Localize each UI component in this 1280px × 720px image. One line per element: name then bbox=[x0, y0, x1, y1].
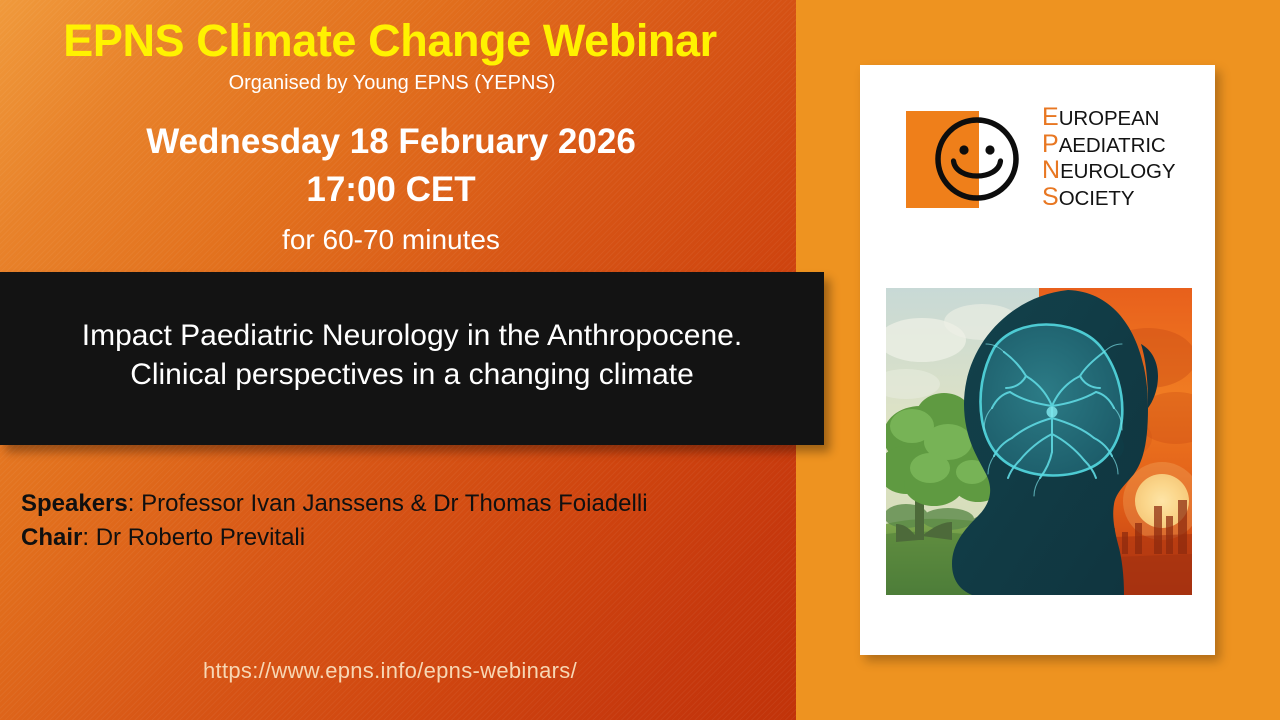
logo-rest-aediatric: AEDIATRIC bbox=[1059, 134, 1166, 157]
webinar-time: 17:00 CET bbox=[0, 170, 782, 210]
chair-row: Chair: Dr Roberto Previtali bbox=[21, 521, 648, 555]
logo-cap-s: S bbox=[1042, 183, 1059, 211]
people-block: Speakers: Professor Ivan Janssens & Dr T… bbox=[21, 487, 648, 555]
logo-line-paediatric: PAEDIATRIC bbox=[1042, 133, 1202, 157]
speakers-label: Speakers bbox=[21, 490, 128, 517]
webinar-date: Wednesday 18 February 2026 bbox=[0, 122, 782, 162]
topic-banner: Impact Paediatric Neurology in the Anthr… bbox=[0, 272, 824, 445]
logo-line-society: SOCIETY bbox=[1042, 186, 1202, 210]
topic-title: Impact Paediatric Neurology in the Anthr… bbox=[32, 316, 792, 402]
epns-logo: EUROPEAN PAEDIATRIC NEUROLOGY SOCIETY bbox=[900, 90, 1200, 225]
logo-cap-e: E bbox=[1042, 103, 1059, 131]
logo-rest-ociety: OCIETY bbox=[1059, 187, 1135, 210]
webinar-url-link[interactable]: https://www.epns.info/epns-webinars/ bbox=[0, 658, 780, 684]
page-subtitle: Organised by Young EPNS (YEPNS) bbox=[0, 71, 784, 95]
webinar-duration: for 60-70 minutes bbox=[0, 224, 782, 256]
chair-label: Chair bbox=[21, 524, 82, 551]
logo-line-neurology: NEUROLOGY bbox=[1042, 159, 1202, 183]
epns-logo-wordmark: EUROPEAN PAEDIATRIC NEUROLOGY SOCIETY bbox=[1042, 106, 1202, 212]
chair-value: : Dr Roberto Previtali bbox=[82, 524, 305, 551]
epns-logo-mark bbox=[900, 90, 1030, 225]
climate-brain-artwork bbox=[886, 288, 1192, 595]
logo-cap-n: N bbox=[1042, 156, 1060, 184]
speakers-row: Speakers: Professor Ivan Janssens & Dr T… bbox=[21, 487, 648, 521]
logo-rest-eurology: EUROLOGY bbox=[1060, 160, 1175, 183]
page-title: EPNS Climate Change Webinar bbox=[0, 16, 780, 66]
logo-line-european: EUROPEAN bbox=[1042, 106, 1202, 130]
smiley-face-icon bbox=[933, 115, 1021, 203]
logo-cap-p: P bbox=[1042, 130, 1059, 158]
webinar-poster-slide: EPNS Climate Change Webinar Organised by… bbox=[0, 0, 1280, 720]
speakers-value: : Professor Ivan Janssens & Dr Thomas Fo… bbox=[128, 490, 648, 517]
logo-rest-uropean: UROPEAN bbox=[1059, 107, 1160, 130]
right-white-card: EUROPEAN PAEDIATRIC NEUROLOGY SOCIETY bbox=[860, 65, 1215, 655]
